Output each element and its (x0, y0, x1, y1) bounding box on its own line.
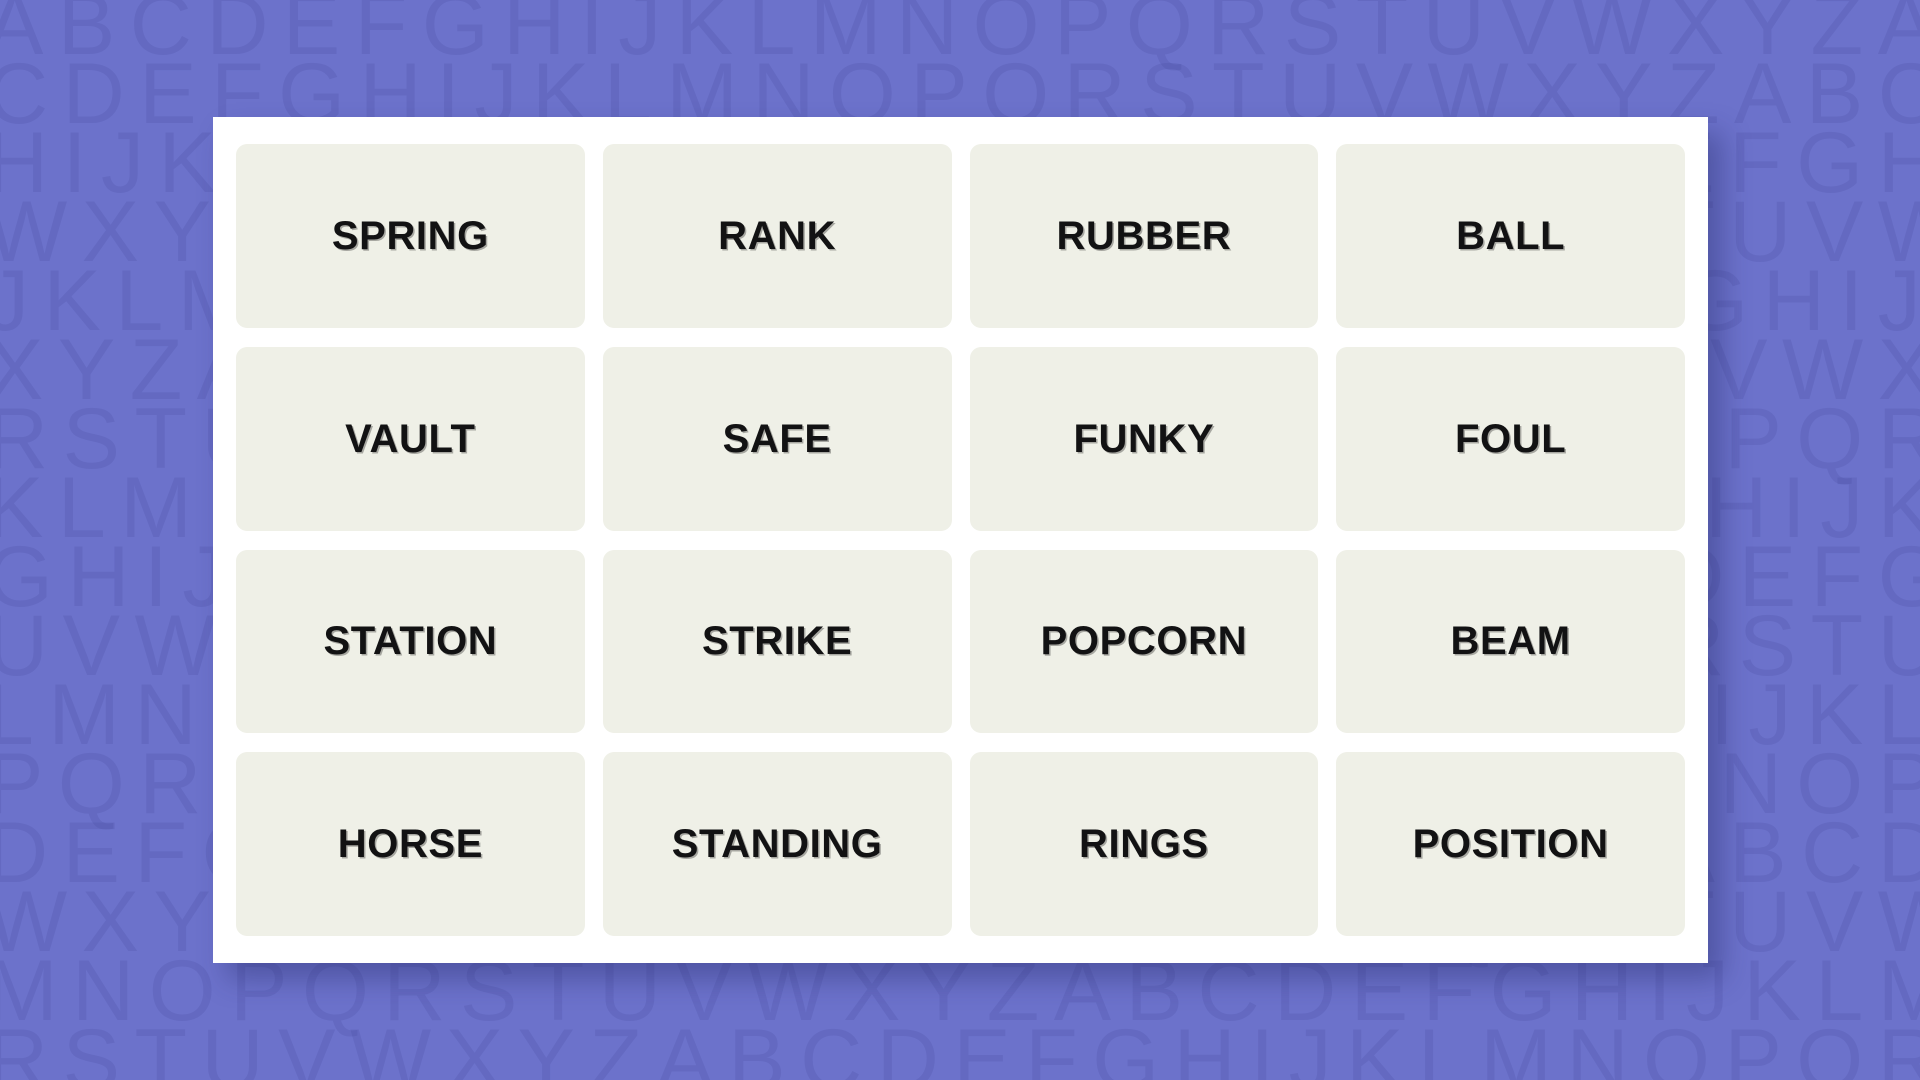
word-tile[interactable]: VAULT (236, 347, 585, 531)
word-tile-label: STRIKE (702, 621, 852, 661)
word-tile[interactable]: RANK (603, 144, 952, 328)
word-tile[interactable]: SPRING (236, 144, 585, 328)
word-tile-label: SAFE (723, 419, 832, 459)
word-tile[interactable]: STATION (236, 550, 585, 734)
word-tile-label: BEAM (1451, 621, 1571, 661)
word-tile[interactable]: FUNKY (970, 347, 1319, 531)
word-tile[interactable]: HORSE (236, 752, 585, 936)
word-tile[interactable]: STRIKE (603, 550, 952, 734)
word-tile[interactable]: STANDING (603, 752, 952, 936)
backdrop-letter-row: RSTUVWXYZABCDEFGHIJKLMNOPQRSTUVWXYZA (0, 1017, 1920, 1080)
word-tile-label: SPRING (332, 216, 489, 256)
word-tile[interactable]: SAFE (603, 347, 952, 531)
word-tile-label: BALL (1456, 216, 1565, 256)
word-tile-grid: SPRINGRANKRUBBERBALLVAULTSAFEFUNKYFOULST… (236, 144, 1685, 936)
puzzle-board-panel: SPRINGRANKRUBBERBALLVAULTSAFEFUNKYFOULST… (213, 117, 1708, 963)
word-tile[interactable]: BALL (1336, 144, 1685, 328)
word-tile[interactable]: BEAM (1336, 550, 1685, 734)
word-tile-label: STATION (323, 621, 497, 661)
word-tile[interactable]: POSITION (1336, 752, 1685, 936)
word-tile-label: VAULT (345, 419, 475, 459)
word-tile-label: RUBBER (1057, 216, 1232, 256)
word-tile[interactable]: RINGS (970, 752, 1319, 936)
word-tile-label: HORSE (338, 824, 483, 864)
word-tile[interactable]: FOUL (1336, 347, 1685, 531)
word-tile-label: POSITION (1413, 824, 1609, 864)
word-tile-label: STANDING (672, 824, 883, 864)
word-tile-label: FUNKY (1073, 419, 1214, 459)
word-tile-label: POPCORN (1041, 621, 1247, 661)
word-tile-label: RANK (718, 216, 836, 256)
word-tile-label: FOUL (1455, 419, 1566, 459)
backdrop-letter-row: ABCDEFGHIJKLMNOPQRSTUVWXYZABCDEFGHIJ (0, 0, 1920, 68)
word-tile[interactable]: RUBBER (970, 144, 1319, 328)
word-tile-label: RINGS (1079, 824, 1209, 864)
word-tile[interactable]: POPCORN (970, 550, 1319, 734)
